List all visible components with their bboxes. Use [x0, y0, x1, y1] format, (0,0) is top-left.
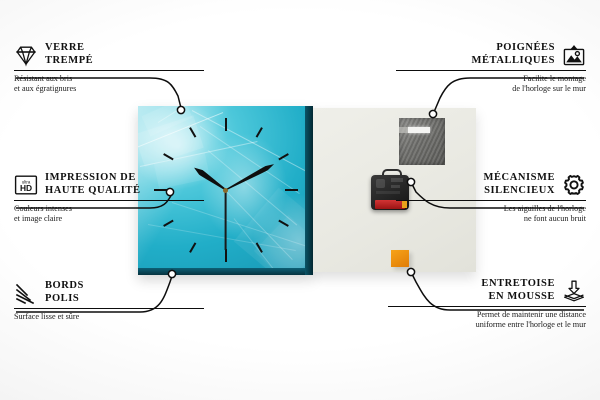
callout-title: MÉCANISME SILENCIEUX: [484, 172, 555, 197]
callout-divider: [388, 306, 586, 307]
infographic-canvas: VERRE TREMPÉ Résistant aux bris et aux é…: [0, 0, 600, 400]
callout-divider: [396, 200, 586, 201]
ultra-hd-icon: ultra HD: [14, 173, 38, 197]
callout-verre-trempe: VERRE TREMPÉ Résistant aux bris et aux é…: [14, 42, 204, 94]
callout-title: ENTRETOISE EN MOUSSE: [481, 278, 555, 303]
callout-divider: [14, 70, 204, 71]
wire-node-poignees: [429, 110, 436, 117]
callout-title: POIGNÉES MÉTALLIQUES: [472, 42, 555, 67]
gear-icon: [562, 173, 586, 197]
callout-poignees-metalliques: POIGNÉES MÉTALLIQUES Facilite le montage…: [396, 42, 586, 94]
wire-node-entretoise: [407, 268, 414, 275]
callout-description: Couleurs intenses et image claire: [14, 204, 204, 224]
callout-description: Facilite le montage de l'horloge sur le …: [396, 74, 586, 94]
diamond-icon: [14, 43, 38, 67]
wire-node-verre-trempe: [177, 106, 184, 113]
callout-title: BORDS POLIS: [45, 280, 84, 305]
picture-hanger-icon: [562, 43, 586, 67]
callout-divider: [14, 200, 204, 201]
callout-title: IMPRESSION DE HAUTE QUALITÉ: [45, 172, 141, 197]
callout-divider: [396, 70, 586, 71]
callout-divider: [14, 308, 204, 309]
callout-entretoise-en-mousse: ENTRETOISE EN MOUSSE Permet de maintenir…: [388, 278, 586, 330]
callout-bords-polis: BORDS POLIS Surface lisse et sûre: [14, 280, 204, 322]
callout-impression-haute-qualite: ultra HD IMPRESSION DE HAUTE QUALITÉ Cou…: [14, 172, 204, 224]
wire-node-bords-polis: [168, 270, 175, 277]
polished-edges-icon: [14, 281, 38, 305]
callout-title: VERRE TREMPÉ: [45, 42, 93, 67]
callout-description: Résistant aux bris et aux égratignures: [14, 74, 204, 94]
callout-mecanisme-silencieux: MÉCANISME SILENCIEUX Les aiguilles de l'…: [396, 172, 586, 224]
callout-description: Permet de maintenir une distance uniform…: [388, 310, 586, 330]
callout-description: Surface lisse et sûre: [14, 312, 204, 322]
svg-text:HD: HD: [20, 183, 32, 193]
callout-description: Les aiguilles de l'horloge ne font aucun…: [396, 204, 586, 224]
foam-spacer-arrow-icon: [562, 279, 586, 303]
